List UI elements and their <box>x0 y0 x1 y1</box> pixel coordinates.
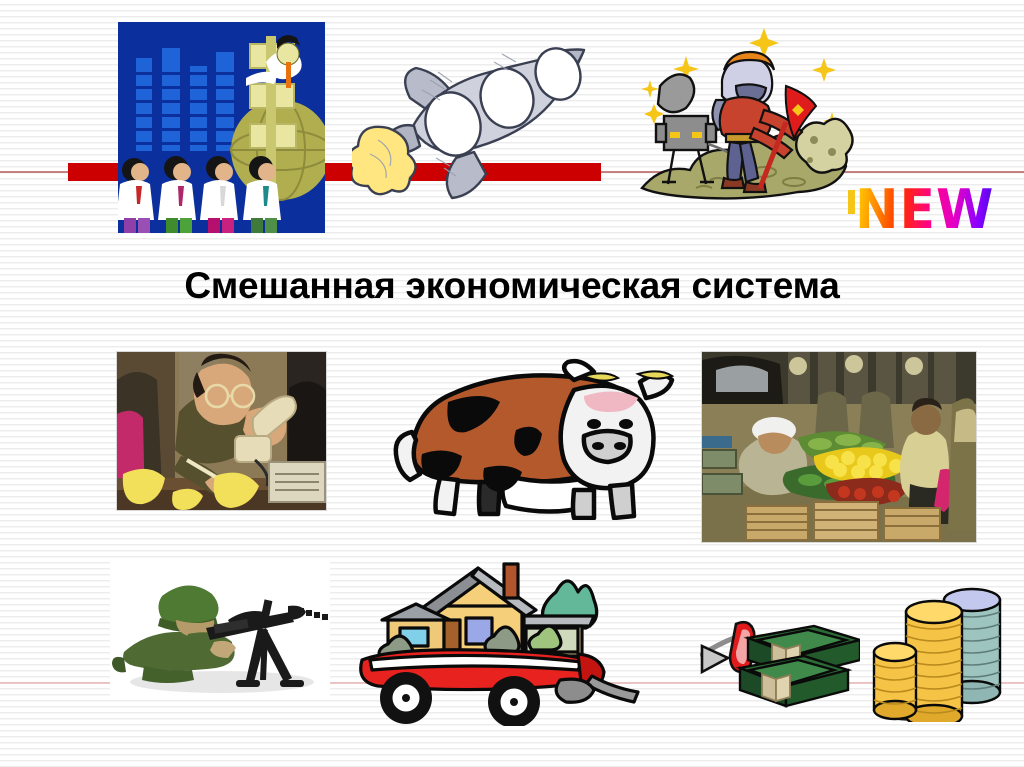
cash-bundles-clipart <box>700 608 860 708</box>
page-title: Смешанная экономическая система <box>0 265 1024 307</box>
toy-soldier-clipart <box>110 562 330 698</box>
hereford-bull-clipart <box>388 358 678 520</box>
street-market-photo <box>702 352 976 542</box>
presentation-slide: NEW Смешанная экономическая система <box>0 0 1024 767</box>
stock-broker-photo <box>117 352 326 510</box>
house-on-wagon-clipart <box>348 556 648 726</box>
coin-stacks-clipart <box>866 572 1006 722</box>
astronaut-flag-clipart <box>636 24 858 214</box>
business-growth-clipart <box>118 22 325 233</box>
new-word-art: NEW <box>855 183 994 238</box>
rocket-clipart <box>352 32 590 212</box>
